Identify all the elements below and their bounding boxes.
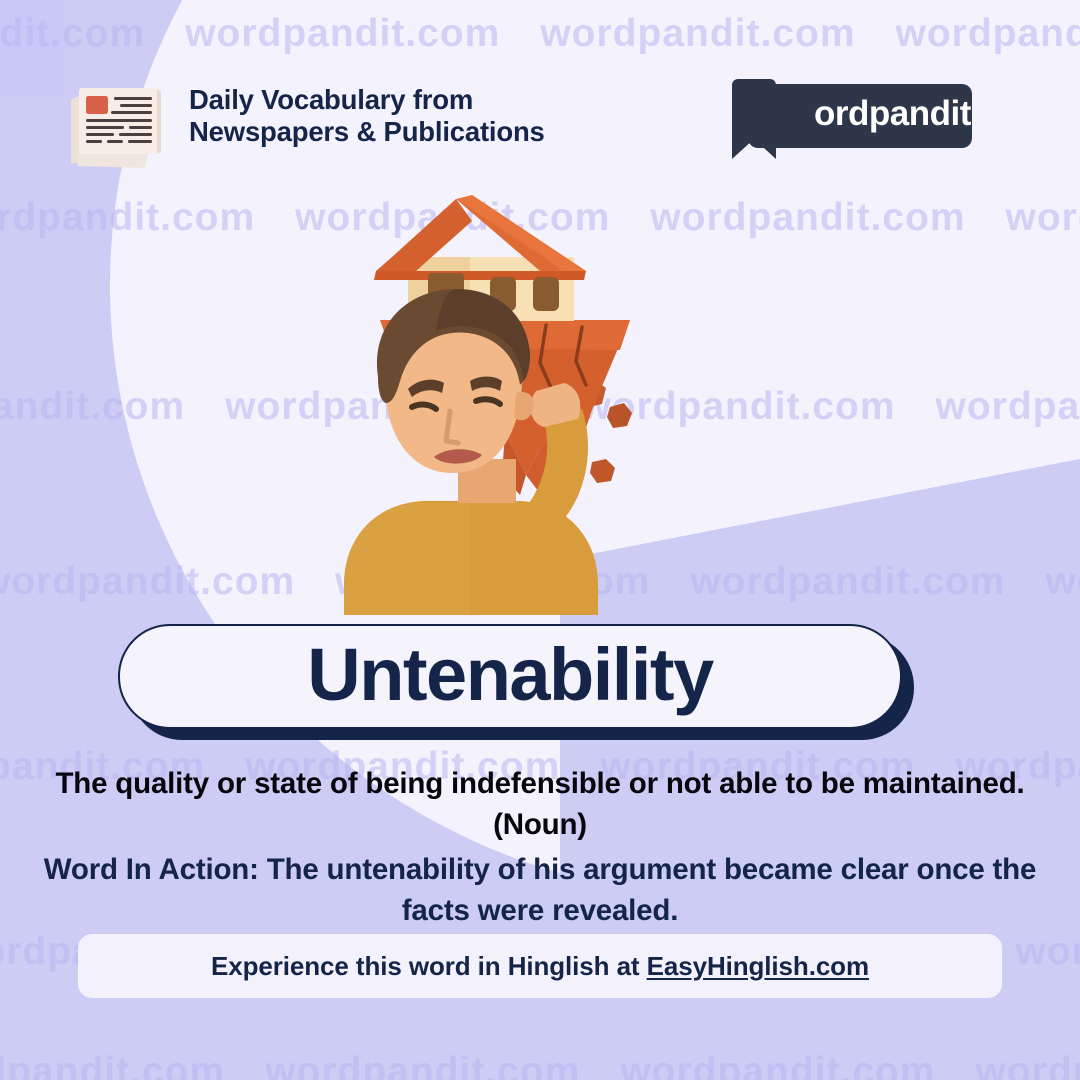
house-on-crumbling-cliff-illustration (330, 185, 670, 615)
page-title: Daily Vocabulary from Newspapers & Publi… (189, 84, 545, 149)
footer-text: Experience this word in Hinglish at Easy… (211, 951, 869, 982)
hinglish-footer-banner[interactable]: Experience this word in Hinglish at Easy… (78, 934, 1002, 998)
header: Daily Vocabulary from Newspapers & Publi… (0, 62, 1080, 172)
word-in-action: Word In Action: The untenability of his … (36, 850, 1044, 931)
header-title-line1: Daily Vocabulary from (189, 84, 545, 116)
logo-text: ordpandit (814, 94, 971, 134)
easyhinglish-link[interactable]: EasyHinglish.com (647, 951, 869, 981)
vocabulary-card: wordpandit.comwordpandit.comwordpandit.c… (0, 0, 1080, 1080)
footer-prefix: Experience this word in Hinglish at (211, 951, 647, 981)
word-definition: The quality or state of being indefensib… (36, 764, 1044, 845)
wordpandit-logo[interactable]: ordpandit (748, 84, 972, 148)
vocabulary-word: Untenability (307, 638, 712, 712)
header-title-line2: Newspapers & Publications (189, 116, 545, 148)
word-pill: Untenability (118, 624, 902, 729)
newspaper-icon (57, 72, 169, 172)
word-display: Untenability (118, 624, 902, 729)
bookmark-icon (732, 75, 776, 163)
